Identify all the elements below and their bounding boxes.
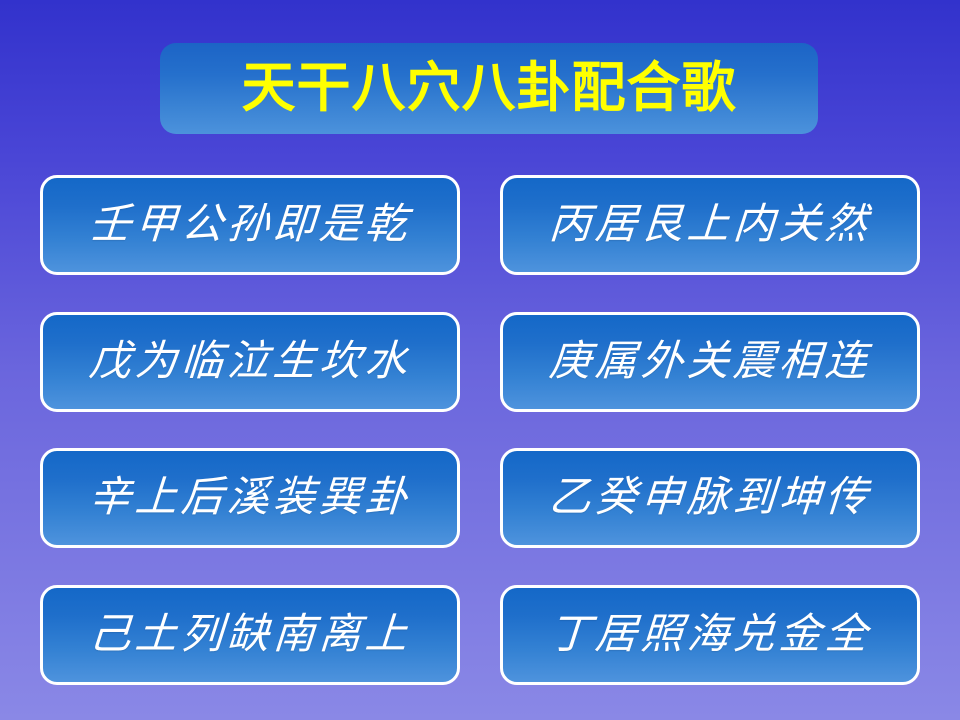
verse-box-1: 壬甲公孙即是乾 [40, 175, 460, 275]
verse-text: 己土列缺南离上 [87, 613, 412, 658]
verse-text: 丁居照海兑金全 [547, 613, 872, 658]
page-title: 天干八穴八卦配合歌 [242, 61, 737, 117]
verse-box-4: 庚属外关震相连 [500, 312, 920, 412]
verse-text: 壬甲公孙即是乾 [87, 203, 412, 248]
verse-text: 戊为临泣生坎水 [87, 340, 412, 385]
verse-grid: 壬甲公孙即是乾 丙居艮上内关然 戊为临泣生坎水 庚属外关震相连 辛上后溪装巽卦 … [0, 175, 960, 695]
verse-box-6: 乙癸申脉到坤传 [500, 448, 920, 548]
verse-box-8: 丁居照海兑金全 [500, 585, 920, 685]
verse-text: 乙癸申脉到坤传 [547, 476, 872, 521]
verse-box-7: 己土列缺南离上 [40, 585, 460, 685]
verse-box-3: 戊为临泣生坎水 [40, 312, 460, 412]
title-banner: 天干八穴八卦配合歌 [160, 43, 818, 134]
slide-canvas: 天干八穴八卦配合歌 壬甲公孙即是乾 丙居艮上内关然 戊为临泣生坎水 庚属外关震相… [0, 0, 960, 720]
verse-text: 丙居艮上内关然 [547, 203, 872, 248]
verse-box-5: 辛上后溪装巽卦 [40, 448, 460, 548]
verse-text: 辛上后溪装巽卦 [87, 476, 412, 521]
verse-box-2: 丙居艮上内关然 [500, 175, 920, 275]
verse-text: 庚属外关震相连 [547, 340, 872, 385]
